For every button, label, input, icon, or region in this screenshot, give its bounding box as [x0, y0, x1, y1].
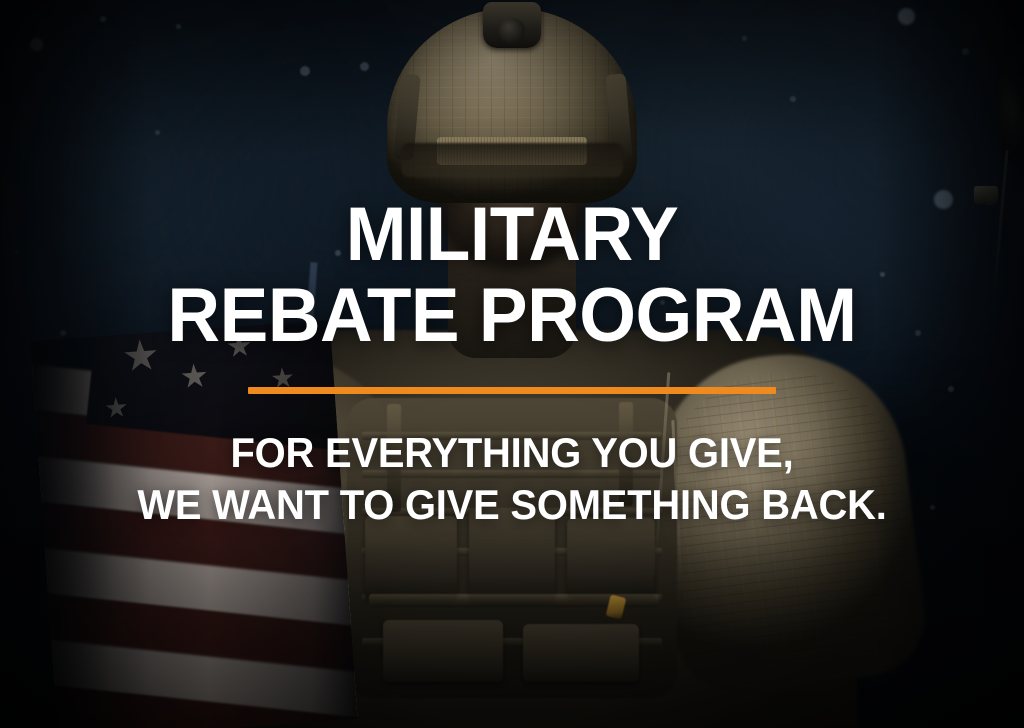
subheadline-line-2: WE WANT TO GIVE SOMETHING BACK. [26, 484, 999, 526]
headline-line-2: REBATE PROGRAM [20, 281, 1003, 351]
orange-divider-rule [248, 387, 776, 394]
subheadline-line-1: FOR EVERYTHING YOU GIVE, [26, 432, 999, 474]
military-rebate-banner: MILITARY REBATE PROGRAM FOR EVERYTHING Y… [0, 0, 1024, 728]
headline-line-1: MILITARY [20, 200, 1003, 270]
text-overlay: MILITARY REBATE PROGRAM FOR EVERYTHING Y… [0, 0, 1024, 728]
